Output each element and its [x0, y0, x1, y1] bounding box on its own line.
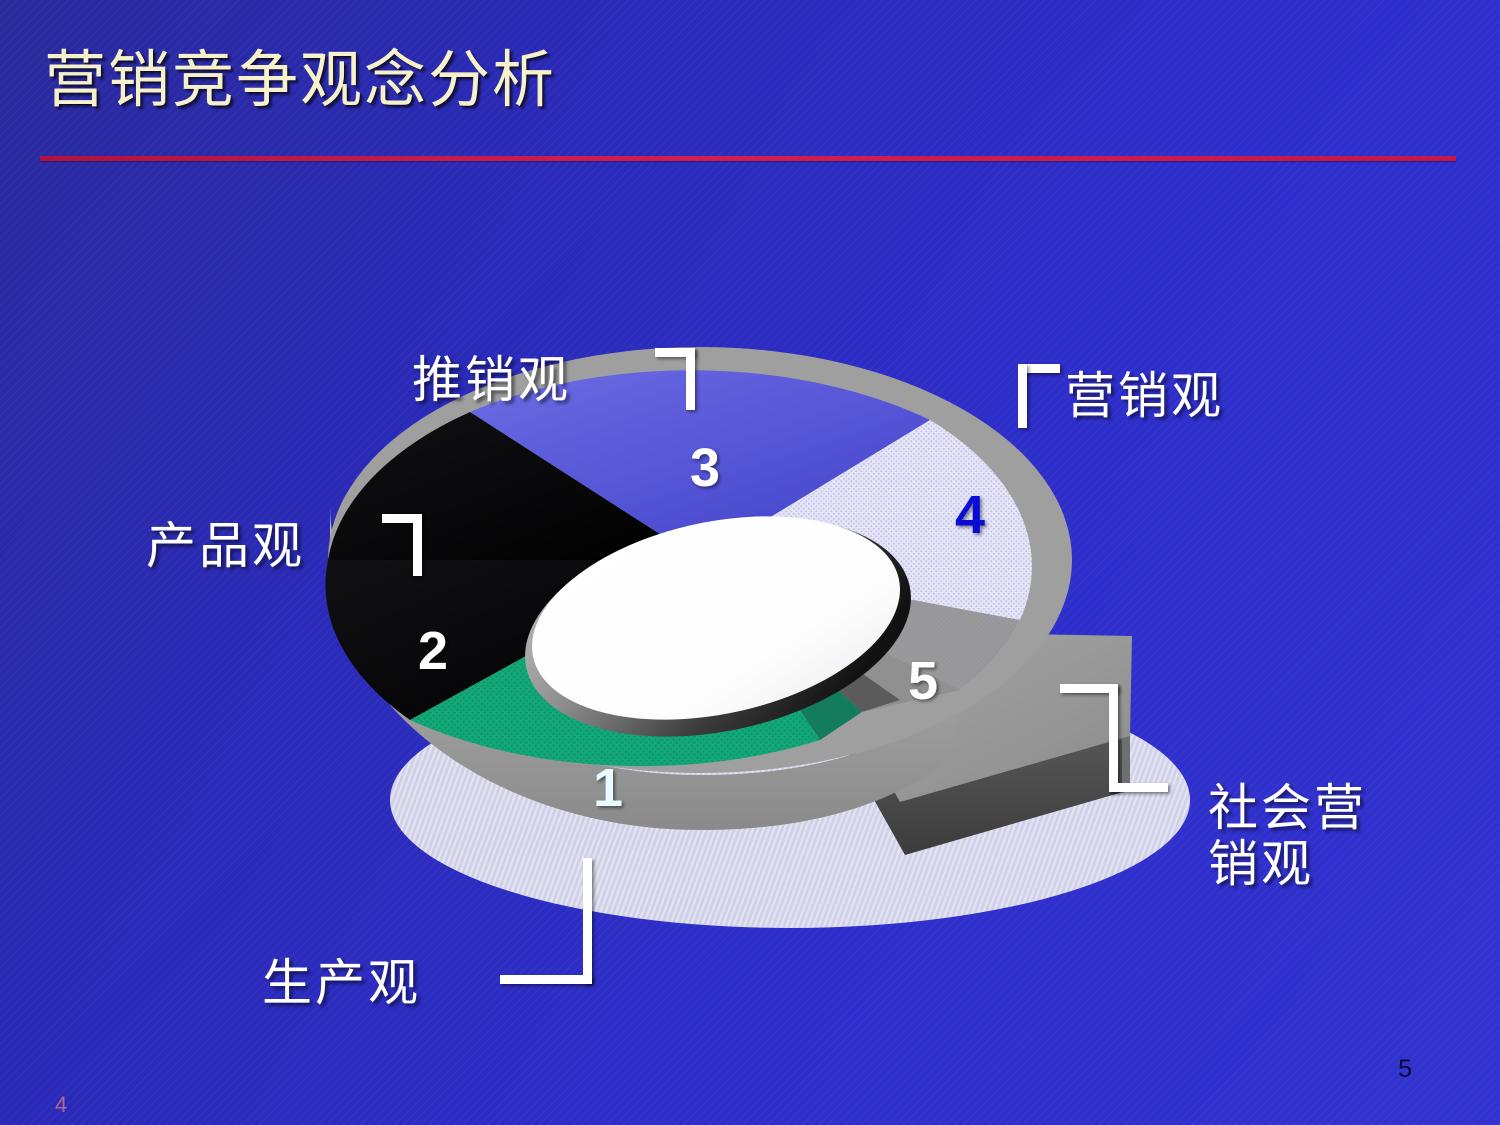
- callout-label-societal-marketing-concept: 社会营 销观: [1208, 780, 1458, 892]
- leader-line-product-concept: [382, 514, 422, 576]
- leader-line-marketing-concept: [1018, 364, 1060, 428]
- callout-label-production-concept: 生产观: [262, 955, 421, 1011]
- page-title: 营销竞争观念分析: [44, 48, 556, 113]
- donut-hole-rim: [505, 485, 932, 770]
- slice-5-gap: [700, 560, 1020, 712]
- title-divider: [40, 156, 1456, 161]
- callout-line-2: 销观: [1208, 836, 1458, 892]
- slice-1-shadow-edge: [700, 560, 862, 740]
- slice-number-4: 4: [955, 484, 985, 546]
- slice-5-gap-shadow: [700, 560, 900, 712]
- disc-top: [328, 347, 1072, 773]
- slice-number-5: 5: [908, 650, 938, 712]
- slide-canvas: 营销竞争观念分析: [0, 0, 1500, 1125]
- donut-hole-top: [513, 485, 919, 751]
- slice-2-top-lower: [325, 560, 700, 720]
- callout-label-marketing-concept: 营销观: [1065, 368, 1224, 424]
- page-number-bottom-right: 5: [1398, 1055, 1412, 1084]
- leader-line-societal-marketing-concept: [1060, 684, 1168, 792]
- slice-number-1: 1: [593, 757, 623, 819]
- leader-line-push-concept: [655, 348, 695, 410]
- callout-line-1: 社会营: [1208, 780, 1458, 836]
- page-number-bottom-left: 4: [55, 1092, 67, 1118]
- callout-label-product-concept: 产品观: [146, 518, 305, 574]
- leader-line-production-concept: [500, 858, 592, 984]
- slice-1-top: [410, 560, 820, 766]
- slice-number-3: 3: [690, 437, 720, 499]
- slice-number-2: 2: [418, 620, 448, 682]
- slice-4-top-lower: [700, 560, 1020, 690]
- callout-label-push-concept: 推销观: [412, 352, 571, 408]
